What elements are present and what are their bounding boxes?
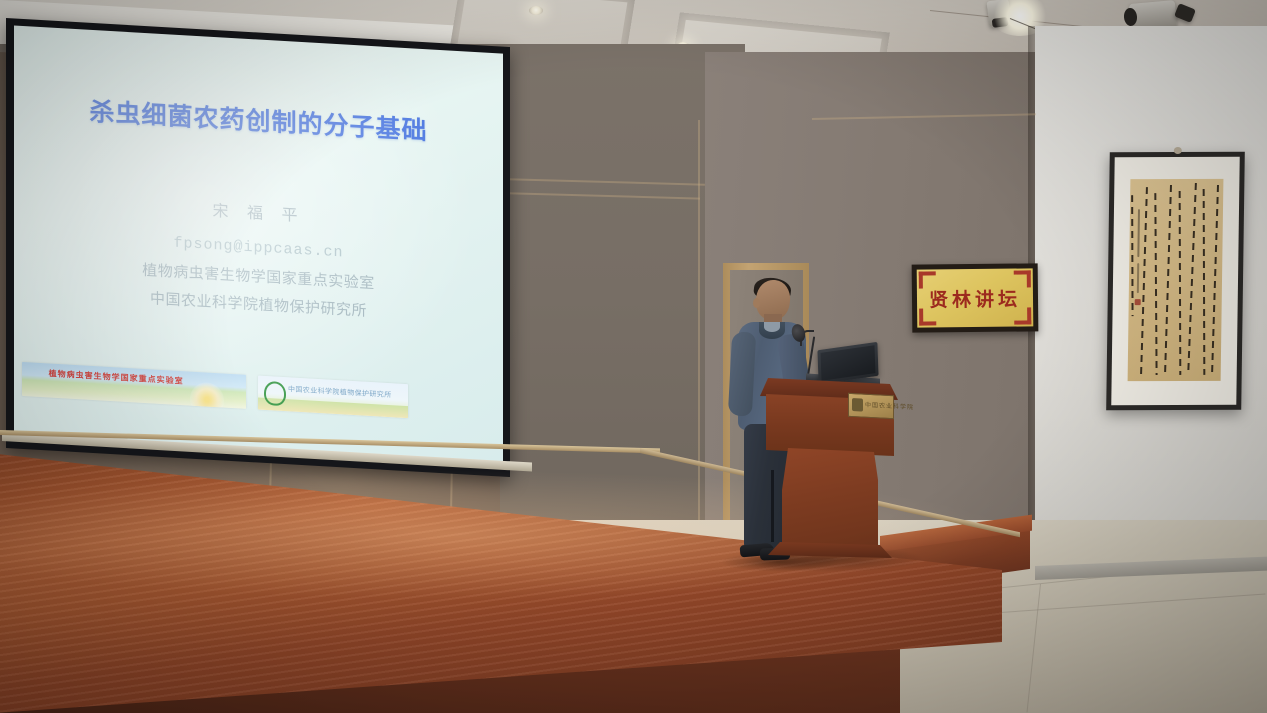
calligraphy-mat xyxy=(1111,157,1239,405)
podium-nameplate: 中国农业科学院 xyxy=(848,393,894,419)
wall-plaque-text: 贤林讲坛 xyxy=(917,268,1034,327)
calligraphy-seal-icon xyxy=(1135,299,1141,305)
calligraphy-column xyxy=(1164,185,1172,375)
calligraphy-column xyxy=(1179,191,1182,375)
calligraphy-column xyxy=(1140,187,1148,375)
speaker-shirt-collar xyxy=(764,322,780,332)
podium-column xyxy=(782,448,878,550)
state-key-lab-banner-logo: 植物病虫害生物学国家重点实验室 xyxy=(22,362,246,409)
speaker-left-arm xyxy=(728,331,756,416)
spotlight-head-icon xyxy=(1123,7,1138,26)
ippcaas-banner-text: 中国农业科学院植物保护研究所 xyxy=(288,384,392,400)
sun-flower-icon xyxy=(190,382,224,409)
calligraphy-column xyxy=(1131,195,1133,316)
framed-calligraphy-scroll xyxy=(1106,152,1245,410)
calligraphy-paper xyxy=(1128,179,1224,381)
calligraphy-column xyxy=(1154,193,1157,375)
state-key-lab-banner-text: 植物病虫害生物学国家重点实验室 xyxy=(49,368,184,387)
laptop-screen[interactable] xyxy=(821,345,876,380)
lecture-hall-photo: 杀虫细菌农药创制的分子基础 宋 福 平 fpsong@ippcaas.cn 植物… xyxy=(0,0,1267,713)
wall-plaque: 贤林讲坛 xyxy=(912,263,1039,332)
slide-title: 杀虫细菌农药创制的分子基础 xyxy=(14,87,503,151)
projection-screen: 杀虫细菌农药创制的分子基础 宋 福 平 fpsong@ippcaas.cn 植物… xyxy=(6,18,510,477)
calligraphy-column xyxy=(1187,183,1197,375)
calligraphy-column xyxy=(1211,185,1219,375)
calligraphy-column xyxy=(1203,189,1206,375)
presentation-slide: 杀虫细菌农药创制的分子基础 宋 福 平 fpsong@ippcaas.cn 植物… xyxy=(14,25,503,467)
calligraphy-signature xyxy=(1137,263,1139,293)
institute-emblem-icon xyxy=(852,398,863,412)
podium-nameplate-text: 中国农业科学院 xyxy=(865,400,891,410)
speaker-ear xyxy=(753,298,760,308)
lectern-podium: 中国农业科学院 xyxy=(760,378,898,564)
downlight-icon xyxy=(529,6,543,15)
calligraphy-signature xyxy=(1137,209,1140,257)
slide-logo-row: 植物病虫害生物学国家重点实验室 中国农业科学院植物保护研究所 xyxy=(22,362,495,423)
ippcaas-banner-logo: 中国农业科学院植物保护研究所 xyxy=(258,376,408,419)
picture-hook-icon xyxy=(1173,147,1181,154)
projection-screen-surface: 杀虫细菌农药创制的分子基础 宋 福 平 fpsong@ippcaas.cn 植物… xyxy=(14,25,503,467)
leaf-emblem-icon xyxy=(264,381,286,406)
wall-plaque-face: 贤林讲坛 xyxy=(917,268,1034,327)
